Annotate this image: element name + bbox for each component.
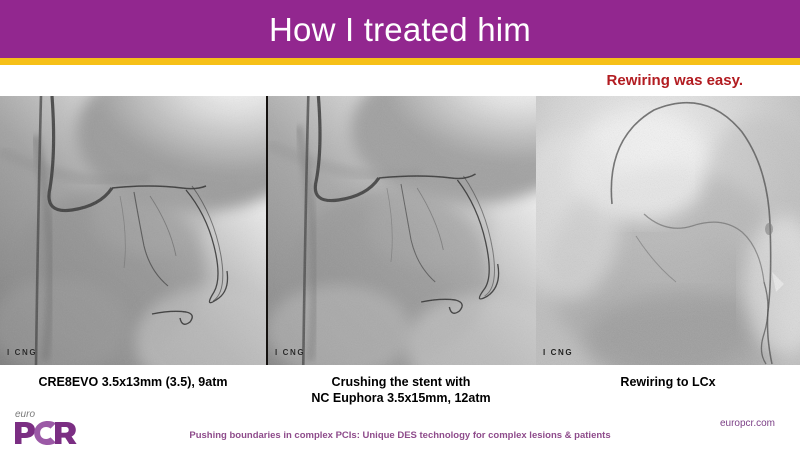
caption-line: Crushing the stent with xyxy=(332,374,471,390)
angiogram-image-1: I CNG xyxy=(0,96,266,365)
angiogram-overlay-label-3: I CNG xyxy=(543,348,573,357)
title-accent-stripe xyxy=(0,58,800,65)
caption-panel-1: CRE8EVO 3.5x13mm (3.5), 9atm xyxy=(0,368,266,408)
caption-row: CRE8EVO 3.5x13mm (3.5), 9atm Crushing th… xyxy=(0,368,800,408)
caption-line: CRE8EVO 3.5x13mm (3.5), 9atm xyxy=(39,374,228,390)
caption-panel-2: Crushing the stent with NC Euphora 3.5x1… xyxy=(266,368,536,408)
fluoroscopy-render-2 xyxy=(268,96,536,365)
subtitle-row: Rewiring was easy. xyxy=(0,65,800,96)
fluoroscopy-render-3 xyxy=(536,96,800,365)
angiogram-overlay-label-1: I CNG xyxy=(7,348,37,357)
caption-panel-3: Rewiring to LCx xyxy=(536,368,800,408)
angiogram-image-2: I CNG xyxy=(266,96,536,365)
slide-subtitle: Rewiring was easy. xyxy=(607,72,743,89)
caption-line: NC Euphora 3.5x15mm, 12atm xyxy=(311,390,490,406)
footer-url[interactable]: europcr.com xyxy=(720,418,775,429)
page-title: How I treated him xyxy=(269,13,531,46)
angiogram-panel-strip: I CNG xyxy=(0,96,800,365)
angiogram-overlay-label-2: I CNG xyxy=(275,348,305,357)
caption-line: Rewiring to LCx xyxy=(620,374,715,390)
slide-footer: euro Pushing boundaries in complex PCIs:… xyxy=(0,408,800,450)
footer-tagline: Pushing boundaries in complex PCIs: Uniq… xyxy=(0,430,800,441)
logo-euro-text: euro xyxy=(15,410,94,420)
slide-title-bar: How I treated him xyxy=(0,0,800,58)
fluoroscopy-render-1 xyxy=(0,96,266,365)
europcr-logo: euro xyxy=(14,410,94,448)
angiogram-image-3: I CNG xyxy=(536,96,800,365)
